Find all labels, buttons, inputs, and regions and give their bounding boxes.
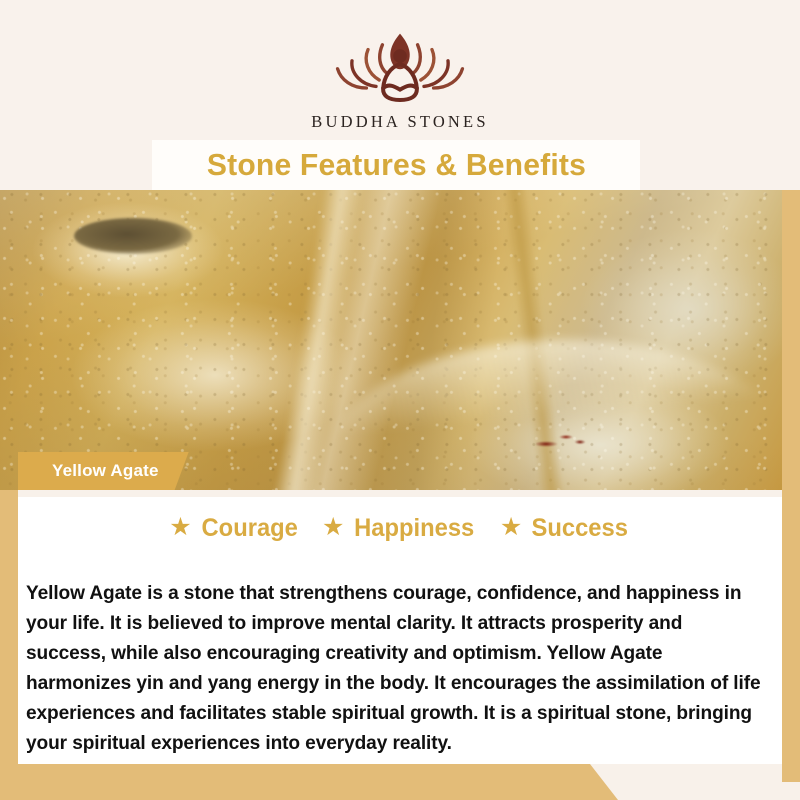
stone-red-inclusion (536, 433, 588, 450)
benefit-item-happiness: ★ Happiness (322, 514, 478, 543)
star-icon: ★ (169, 515, 191, 540)
infographic-page: BUDDHA STONES Stone Features & Benefits … (0, 0, 800, 800)
stone-description: Yellow Agate is a stone that strengthens… (26, 578, 765, 758)
stone-name-banner: Yellow Agate (18, 452, 189, 490)
content-panel: ★ Courage ★ Happiness ★ Success Yellow A… (18, 497, 782, 764)
brand-logo: BUDDHA STONES (0, 24, 800, 132)
lotus-meditation-icon (320, 24, 480, 108)
benefits-list: ★ Courage ★ Happiness ★ Success (18, 514, 782, 543)
gold-frame-bottom-left (0, 764, 618, 800)
stone-name-label: Yellow Agate (52, 461, 159, 481)
benefit-item-success: ★ Success (500, 514, 631, 543)
gold-frame-left (0, 462, 18, 800)
stone-cavity (74, 218, 192, 254)
star-icon: ★ (322, 515, 344, 540)
page-title: Stone Features & Benefits (206, 147, 585, 183)
benefit-item-courage: ★ Courage (169, 514, 300, 543)
stone-image (0, 190, 782, 490)
benefit-label-courage: Courage (201, 514, 297, 543)
benefit-label-success: Success (532, 514, 628, 543)
section-title-band: Stone Features & Benefits (152, 140, 640, 190)
brand-name: BUDDHA STONES (0, 112, 800, 132)
benefit-label-happiness: Happiness (355, 514, 475, 543)
star-icon: ★ (500, 515, 522, 540)
